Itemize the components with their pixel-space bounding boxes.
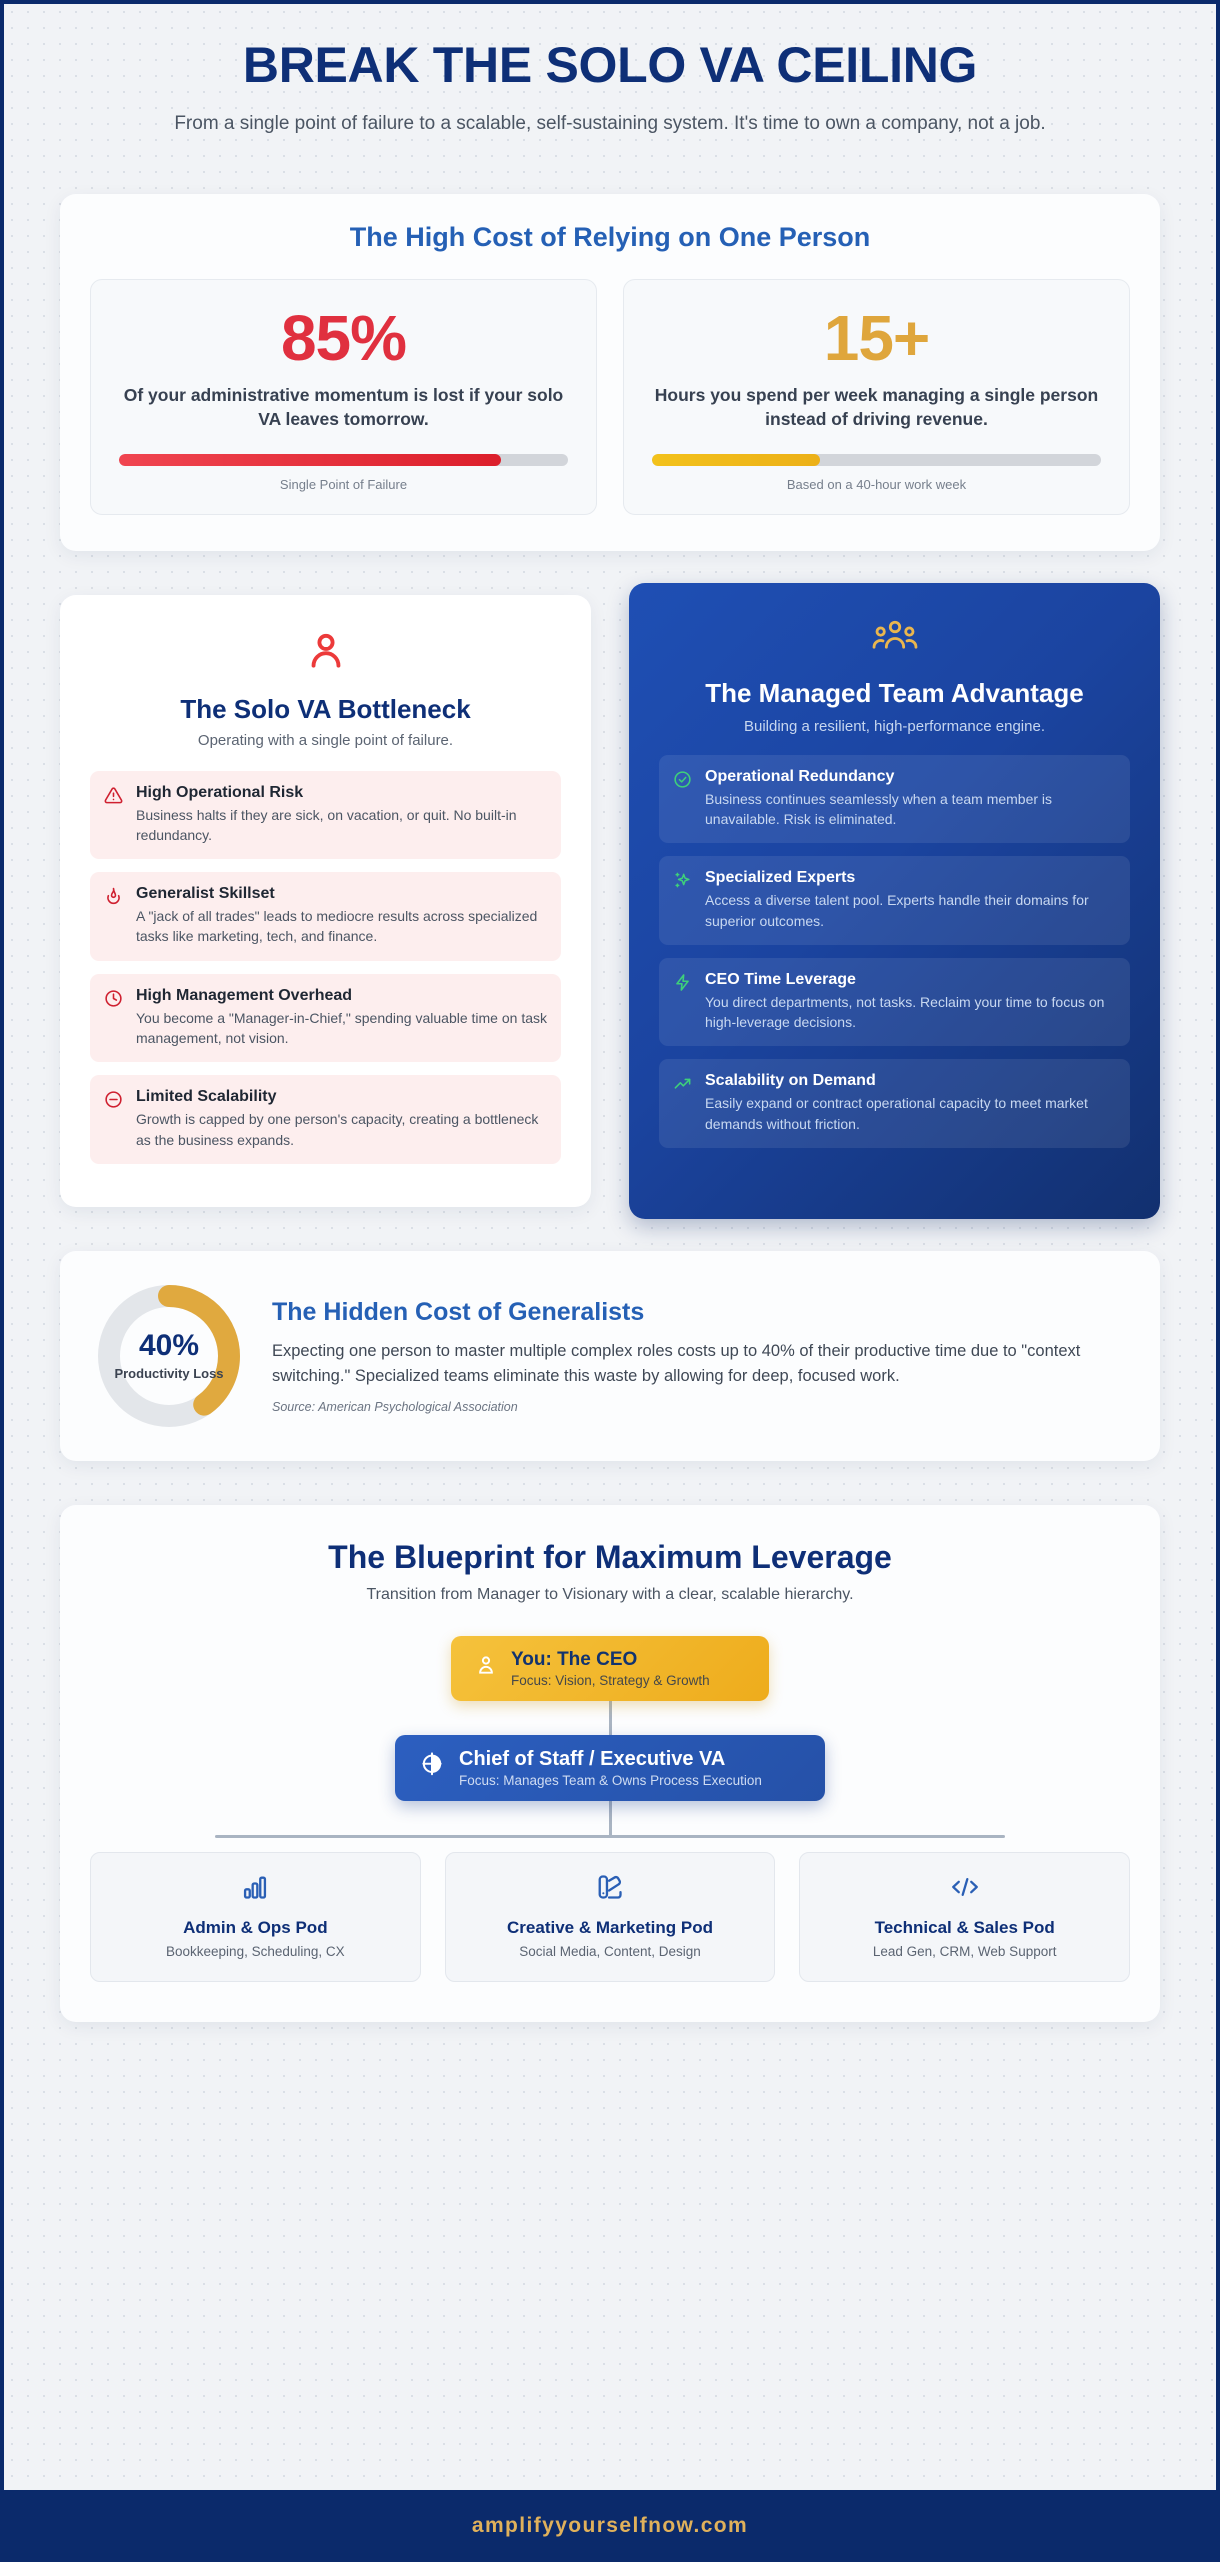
pod-subtitle: Bookkeeping, Scheduling, CX bbox=[105, 1944, 406, 1959]
footer-bar: amplifyyourselfnow.com bbox=[0, 2490, 1220, 2562]
list-item-title: High Management Overhead bbox=[136, 987, 547, 1005]
list-item-title: Generalist Skillset bbox=[136, 885, 547, 903]
list-item-title: Limited Scalability bbox=[136, 1088, 547, 1106]
chief-node-title: Chief of Staff / Executive VA bbox=[459, 1748, 762, 1771]
minus-circle-icon bbox=[104, 1088, 124, 1150]
list-item-text: Easily expand or contract operational ca… bbox=[705, 1093, 1116, 1134]
bar-chart-icon bbox=[105, 1873, 406, 1906]
pod-title: Admin & Ops Pod bbox=[105, 1918, 406, 1938]
list-item-title: CEO Time Leverage bbox=[705, 971, 1116, 989]
donut-value: 40% bbox=[139, 1331, 199, 1361]
productivity-loss-donut: 40% Productivity Loss bbox=[94, 1281, 244, 1431]
flame-icon bbox=[104, 885, 124, 947]
stat-row: 85% Of your administrative momentum is l… bbox=[90, 279, 1130, 515]
pod-subtitle: Lead Gen, CRM, Web Support bbox=[814, 1944, 1115, 1959]
list-item-title: Scalability on Demand bbox=[705, 1072, 1116, 1090]
ceo-node-subtitle: Focus: Vision, Strategy & Growth bbox=[511, 1673, 710, 1688]
alert-triangle-icon bbox=[104, 784, 124, 846]
stat-card-hours: 15+ Hours you spend per week managing a … bbox=[623, 279, 1130, 515]
person-icon bbox=[475, 1653, 497, 1684]
page-subtitle: From a single point of failure to a scal… bbox=[170, 111, 1050, 138]
progress-fill bbox=[652, 454, 820, 466]
stat-label: Of your administrative momentum is lost … bbox=[119, 383, 568, 431]
pods-row: Admin & Ops Pod Bookkeeping, Scheduling,… bbox=[90, 1852, 1130, 1982]
stat-label: Hours you spend per week managing a sing… bbox=[652, 383, 1101, 431]
cost-section-title: The High Cost of Relying on One Person bbox=[90, 222, 1130, 253]
list-item-text: Business continues seamlessly when a tea… bbox=[705, 789, 1116, 830]
chief-of-staff-node: Chief of Staff / Executive VA Focus: Man… bbox=[395, 1735, 825, 1801]
ceo-node: You: The CEO Focus: Vision, Strategy & G… bbox=[451, 1636, 769, 1701]
code-icon bbox=[814, 1873, 1115, 1906]
list-item-text: You become a "Manager-in-Chief," spendin… bbox=[136, 1008, 547, 1049]
lightning-bolt-icon bbox=[673, 971, 693, 1033]
blueprint-subtitle: Transition from Manager to Visionary wit… bbox=[90, 1586, 1130, 1604]
stat-card-momentum: 85% Of your administrative momentum is l… bbox=[90, 279, 597, 515]
ceo-node-row: You: The CEO Focus: Vision, Strategy & G… bbox=[90, 1636, 1130, 1701]
stat-value: 15+ bbox=[652, 306, 1101, 371]
team-card-subtitle: Building a resilient, high-performance e… bbox=[659, 718, 1130, 735]
list-item: Scalability on Demand Easily expand or c… bbox=[659, 1059, 1130, 1148]
connector-horizontal bbox=[215, 1835, 1005, 1838]
hidden-cost-section: 40% Productivity Loss The Hidden Cost of… bbox=[60, 1251, 1160, 1461]
sparkles-icon bbox=[673, 869, 693, 931]
ceo-node-title: You: The CEO bbox=[511, 1649, 710, 1671]
list-item: High Operational Risk Business halts if … bbox=[90, 771, 561, 860]
donut-center-label: 40% Productivity Loss bbox=[94, 1281, 244, 1431]
hero-section: BREAK THE SOLO VA CEILING From a single … bbox=[60, 4, 1160, 138]
chief-node-subtitle: Focus: Manages Team & Owns Process Execu… bbox=[459, 1773, 762, 1788]
connector-vertical bbox=[609, 1801, 612, 1835]
solo-card-subtitle: Operating with a single point of failure… bbox=[90, 732, 561, 749]
team-card-title: The Managed Team Advantage bbox=[659, 678, 1130, 709]
list-item: High Management Overhead You become a "M… bbox=[90, 974, 561, 1063]
hidden-cost-title: The Hidden Cost of Generalists bbox=[272, 1298, 1126, 1327]
infographic-page: BREAK THE SOLO VA CEILING From a single … bbox=[4, 4, 1216, 2558]
palette-icon bbox=[460, 1873, 761, 1906]
managed-team-card: The Managed Team Advantage Building a re… bbox=[629, 583, 1160, 1219]
footer-url[interactable]: amplifyyourselfnow.com bbox=[472, 2514, 748, 2538]
list-item-title: Operational Redundancy bbox=[705, 768, 1116, 786]
chief-node-row: Chief of Staff / Executive VA Focus: Man… bbox=[90, 1735, 1130, 1801]
cost-section: The High Cost of Relying on One Person 8… bbox=[60, 194, 1160, 551]
list-item-text: Business halts if they are sick, on vaca… bbox=[136, 805, 547, 846]
progress-fill bbox=[119, 454, 501, 466]
chief-of-staff-icon bbox=[419, 1751, 445, 1784]
blueprint-section: The Blueprint for Maximum Leverage Trans… bbox=[60, 1505, 1160, 2022]
stat-value: 85% bbox=[119, 306, 568, 371]
progress-track bbox=[119, 454, 568, 466]
list-item: Operational Redundancy Business continue… bbox=[659, 755, 1130, 844]
solo-card-title: The Solo VA Bottleneck bbox=[90, 694, 561, 725]
list-item: Generalist Skillset A "jack of all trade… bbox=[90, 872, 561, 961]
trending-up-icon bbox=[673, 1072, 693, 1134]
stat-caption: Single Point of Failure bbox=[119, 477, 568, 492]
pod-admin-ops: Admin & Ops Pod Bookkeeping, Scheduling,… bbox=[90, 1852, 421, 1982]
hidden-cost-body: The Hidden Cost of Generalists Expecting… bbox=[272, 1298, 1126, 1414]
list-item: CEO Time Leverage You direct departments… bbox=[659, 958, 1130, 1047]
hidden-cost-text: Expecting one person to master multiple … bbox=[272, 1339, 1126, 1390]
list-item-title: Specialized Experts bbox=[705, 869, 1116, 887]
pod-technical-sales: Technical & Sales Pod Lead Gen, CRM, Web… bbox=[799, 1852, 1130, 1982]
list-item-text: You direct departments, not tasks. Recla… bbox=[705, 992, 1116, 1033]
comparison-section: The Solo VA Bottleneck Operating with a … bbox=[60, 595, 1160, 1207]
page-title: BREAK THE SOLO VA CEILING bbox=[60, 38, 1160, 93]
list-item-text: Growth is capped by one person's capacit… bbox=[136, 1109, 547, 1150]
clock-icon bbox=[104, 987, 124, 1049]
progress-track bbox=[652, 454, 1101, 466]
list-item: Specialized Experts Access a diverse tal… bbox=[659, 856, 1130, 945]
pod-creative-marketing: Creative & Marketing Pod Social Media, C… bbox=[445, 1852, 776, 1982]
blueprint-title: The Blueprint for Maximum Leverage bbox=[90, 1539, 1130, 1576]
single-person-icon bbox=[90, 629, 561, 678]
stat-caption: Based on a 40-hour work week bbox=[652, 477, 1101, 492]
team-group-icon bbox=[659, 617, 1130, 662]
hidden-cost-source: Source: American Psychological Associati… bbox=[272, 1400, 1126, 1414]
list-item-text: Access a diverse talent pool. Experts ha… bbox=[705, 890, 1116, 931]
content-wrapper: BREAK THE SOLO VA CEILING From a single … bbox=[4, 4, 1216, 2022]
connector-vertical bbox=[609, 1701, 612, 1735]
list-item-title: High Operational Risk bbox=[136, 784, 547, 802]
donut-caption: Productivity Loss bbox=[114, 1366, 223, 1381]
pod-title: Technical & Sales Pod bbox=[814, 1918, 1115, 1938]
list-item: Limited Scalability Growth is capped by … bbox=[90, 1075, 561, 1164]
pod-title: Creative & Marketing Pod bbox=[460, 1918, 761, 1938]
solo-va-card: The Solo VA Bottleneck Operating with a … bbox=[60, 595, 591, 1207]
list-item-text: A "jack of all trades" leads to mediocre… bbox=[136, 906, 547, 947]
pod-subtitle: Social Media, Content, Design bbox=[460, 1944, 761, 1959]
check-circle-icon bbox=[673, 768, 693, 830]
